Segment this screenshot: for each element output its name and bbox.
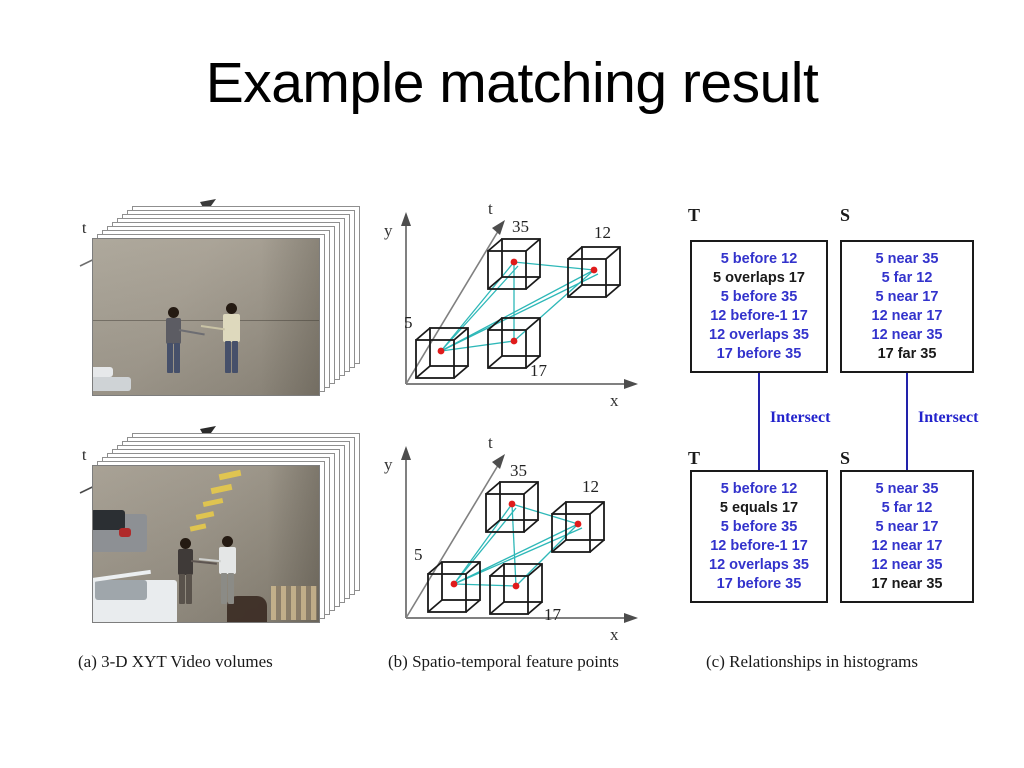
relation-row: 12 overlaps 35 (692, 326, 826, 345)
person-left-top (163, 307, 185, 379)
relation-row: 5 near 17 (842, 288, 972, 307)
relation-row: 12 near 35 (842, 326, 972, 345)
histogram-box-bottom-temporal[interactable]: 5 before 12 5 equals 17 5 before 35 12 b… (690, 470, 828, 603)
axis-label-x-top: x (610, 391, 619, 409)
histogram-label-top-spatial: S (840, 205, 850, 226)
axis-label-t-bottom: t (488, 433, 493, 452)
cube-label-35-top: 35 (512, 217, 529, 236)
feature-links-top (441, 262, 598, 351)
cube-label-5-bottom: 5 (414, 545, 423, 564)
cube-label-5-top: 5 (404, 313, 413, 332)
cube-label-17-top: 17 (530, 361, 548, 380)
feature-point-12-top (591, 267, 598, 274)
relation-row: 17 before 35 (692, 345, 826, 364)
caption-a: (a) 3-D XYT Video volumes (78, 652, 273, 672)
feature-point-35-bottom (509, 501, 516, 508)
relation-row: 5 before 12 (692, 480, 826, 499)
video-frame-top (92, 238, 320, 396)
feature-point-5-top (438, 348, 445, 355)
person-right-bottom (217, 536, 241, 610)
histogram-label-bottom-temporal: T (688, 448, 700, 469)
slide-canvas: Example matching result t (0, 0, 1024, 768)
cube-label-17-bottom: 17 (544, 605, 562, 624)
feature-links-bottom (454, 504, 582, 586)
relation-row: 12 overlaps 35 (692, 556, 826, 575)
relation-row: 5 far 12 (842, 499, 972, 518)
relation-row: 5 before 12 (692, 250, 826, 269)
feature-point-5-bottom (451, 581, 458, 588)
relation-row: 5 equals 17 (692, 499, 826, 518)
histogram-box-top-spatial[interactable]: 5 near 35 5 far 12 5 near 17 12 near 17 … (840, 240, 974, 373)
relation-row: 12 before-1 17 (692, 537, 826, 556)
spatiotemporal-plot-bottom: y t x 5 (366, 428, 656, 643)
cube-label-12-top: 12 (594, 223, 611, 242)
person-left-bottom (175, 538, 197, 610)
histogram-box-bottom-spatial[interactable]: 5 near 35 5 far 12 5 near 17 12 near 17 … (840, 470, 974, 603)
intersect-label-spatial: Intersect (918, 409, 978, 427)
histogram-label-bottom-spatial: S (840, 448, 850, 469)
cube-label-12-bottom: 12 (582, 477, 599, 496)
relation-row: 5 near 35 (842, 480, 972, 499)
relation-row: 5 before 35 (692, 288, 826, 307)
relation-row: 5 overlaps 17 (692, 269, 826, 288)
spatiotemporal-plot-top: y t x (366, 194, 656, 409)
axis-label-y-bottom: y (384, 455, 393, 474)
video-volume-bottom: t (70, 425, 340, 625)
relation-row: 5 near 17 (842, 518, 972, 537)
relation-row: 5 near 35 (842, 250, 972, 269)
relation-row: 12 before-1 17 (692, 307, 826, 326)
time-axis-label-bottom: t (82, 447, 86, 465)
relation-row: 12 near 35 (842, 556, 972, 575)
feature-point-12-bottom (575, 521, 582, 528)
video-frame-bottom (92, 465, 320, 623)
histogram-box-top-temporal[interactable]: 5 before 12 5 overlaps 17 5 before 35 12… (690, 240, 828, 373)
axis-label-x-bottom: x (610, 625, 619, 643)
caption-c: (c) Relationships in histograms (706, 652, 918, 672)
relation-row: 12 near 17 (842, 307, 972, 326)
relation-row: 12 near 17 (842, 537, 972, 556)
axis-label-y-top: y (384, 221, 393, 240)
relation-row: 17 near 35 (842, 575, 972, 594)
video-volume-top: t (70, 198, 340, 398)
intersect-label-temporal: Intersect (770, 409, 830, 427)
feature-point-35-top (511, 259, 518, 266)
cube-label-35-bottom: 35 (510, 461, 527, 480)
relation-row: 17 before 35 (692, 575, 826, 594)
person-right-top (221, 303, 245, 379)
time-axis-label-top: t (82, 220, 86, 238)
page-title: Example matching result (0, 52, 1024, 115)
caption-b: (b) Spatio-temporal feature points (388, 652, 619, 672)
feature-point-17-top (511, 338, 518, 345)
relation-row: 17 far 35 (842, 345, 972, 364)
feature-point-17-bottom (513, 583, 520, 590)
relation-row: 5 before 35 (692, 518, 826, 537)
relation-row: 5 far 12 (842, 269, 972, 288)
axis-label-t-top: t (488, 199, 493, 218)
figure-container: t (0, 180, 1024, 685)
histogram-label-top-temporal: T (688, 205, 700, 226)
